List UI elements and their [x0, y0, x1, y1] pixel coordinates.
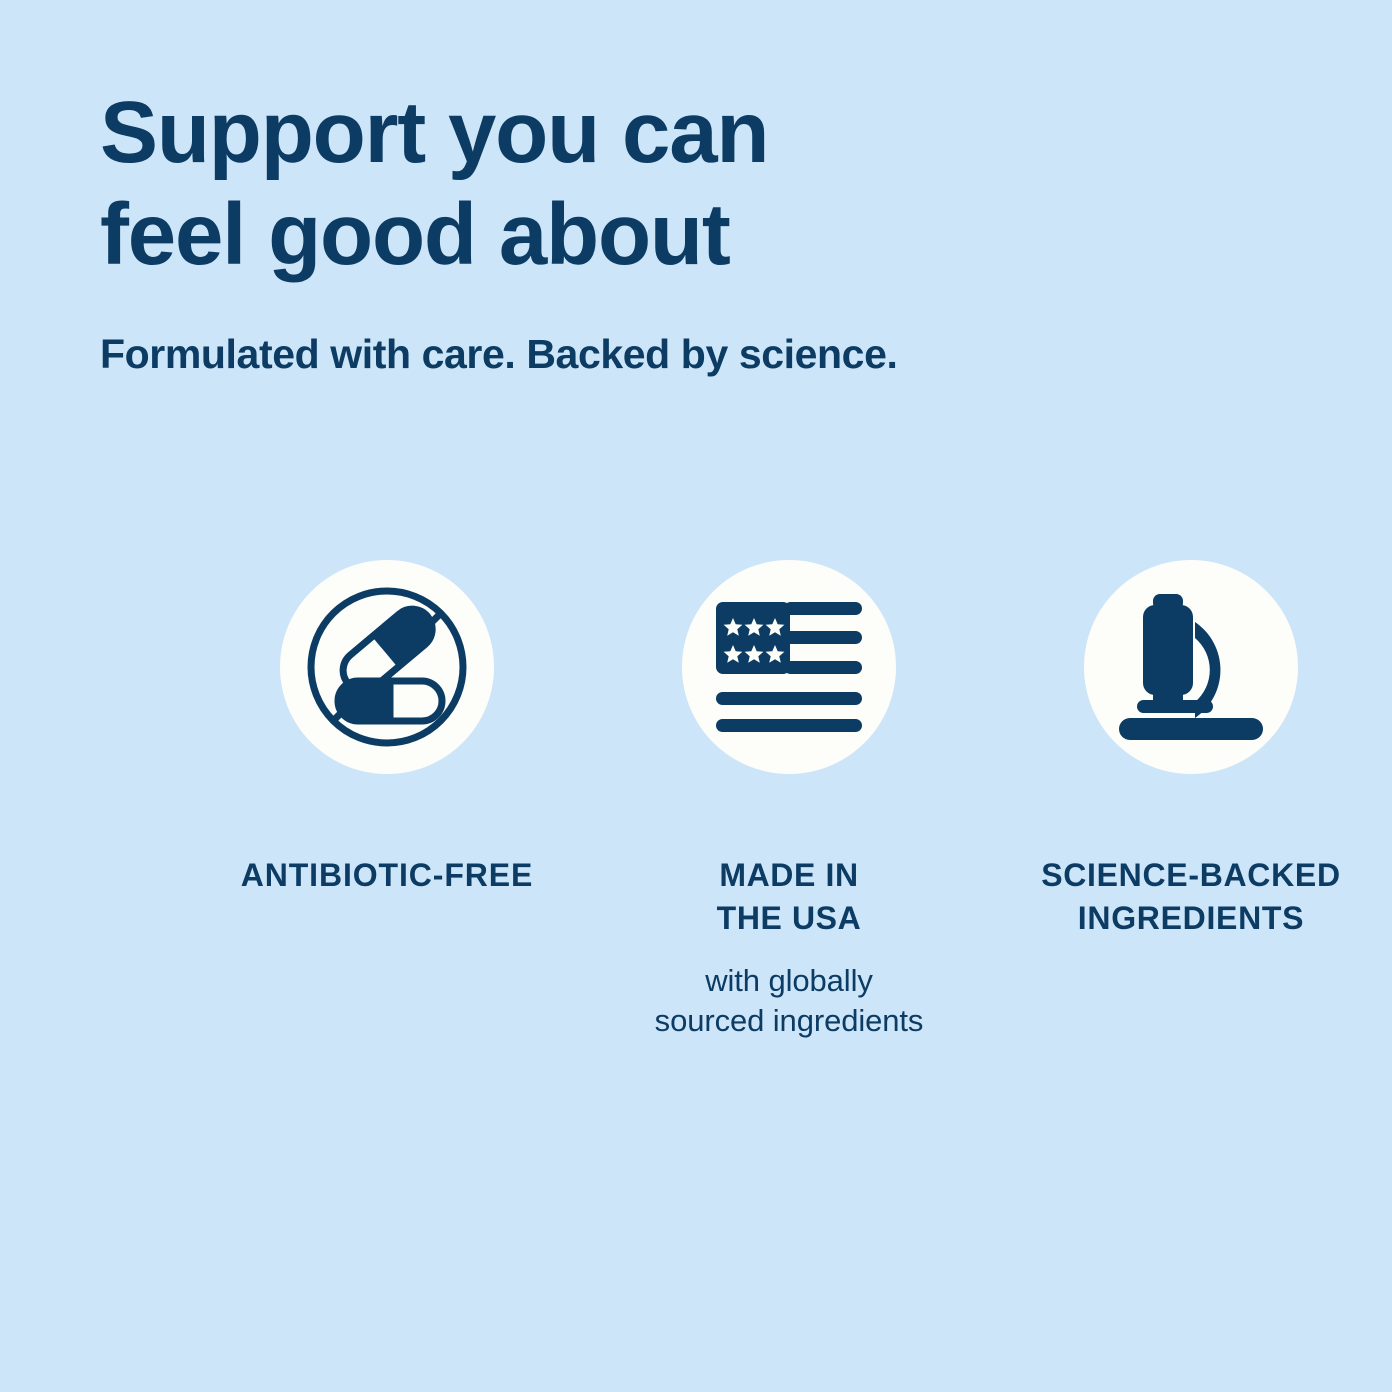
- badge-antibiotic-free: ANTIBIOTIC-FREE: [186, 560, 588, 897]
- badge-subtitle: with globally sourced ingredients: [655, 939, 924, 1042]
- badge-made-in-usa: MADE IN THE USA with globally sourced in…: [588, 560, 990, 1042]
- badge-icon-circle: [682, 560, 896, 774]
- badge-title: ANTIBIOTIC-FREE: [241, 774, 534, 897]
- no-antibiotics-icon: [297, 577, 477, 757]
- usa-flag-icon: [714, 600, 864, 734]
- badge-science-backed: SCIENCE-BACKED INGREDIENTS: [990, 560, 1392, 939]
- page-subtitle: Formulated with care. Backed by science.: [100, 286, 1250, 379]
- header-block: Support you can feel good about Formulat…: [100, 82, 1250, 379]
- badge-icon-circle: [280, 560, 494, 774]
- promo-panel: Support you can feel good about Formulat…: [0, 0, 1392, 1392]
- badge-title: SCIENCE-BACKED INGREDIENTS: [1041, 774, 1341, 939]
- badge-icon-circle: [1084, 560, 1298, 774]
- trust-badges-row: ANTIBIOTIC-FREE: [0, 560, 1392, 1042]
- page-title: Support you can feel good about: [100, 82, 1250, 286]
- microscope-icon: [1115, 592, 1267, 742]
- badge-title: MADE IN THE USA: [717, 774, 862, 939]
